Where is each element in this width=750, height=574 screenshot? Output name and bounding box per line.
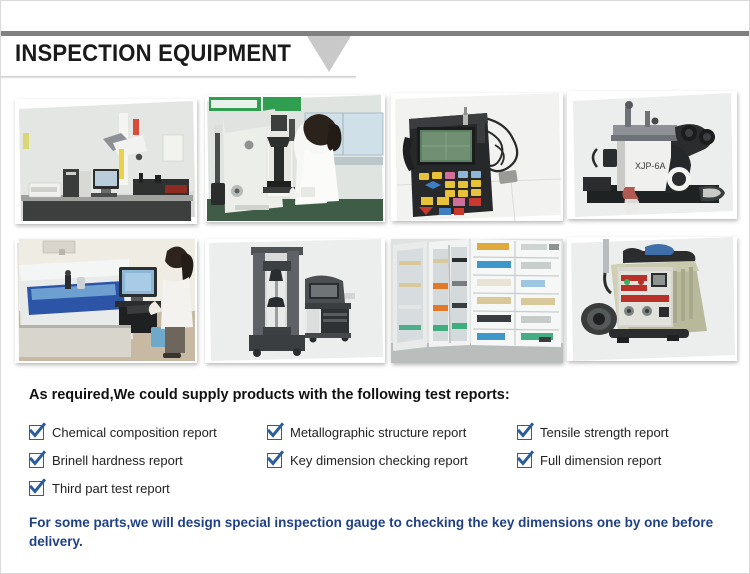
photo-ultrasonic-detector-image [391,93,563,221]
photo-xray-detector-image [567,237,737,361]
svg-text:XJP-6A: XJP-6A [635,161,666,171]
checkbox-checked-icon[interactable] [517,453,532,468]
checklist-item-chemical-composition-report[interactable]: Chemical composition report [29,421,217,443]
banner-triangle-notch-icon [307,36,351,72]
checklist-row: Chemical composition report Metallograph… [29,421,729,449]
checklist-item-third-part-test-report[interactable]: Third part test report [29,477,170,499]
checklist-item-brinell-hardness-report[interactable]: Brinell hardness report [29,449,183,471]
checklist-item-key-dimension-checking-report[interactable]: Key dimension checking report [267,449,468,471]
photo-cmm-lab-image [15,99,197,224]
test-reports-checklist: Chemical composition report Metallograph… [29,421,729,505]
checklist-item-label: Tensile strength report [540,425,669,440]
checklist-row: Third part test report [29,477,729,505]
equipment-photo-grid: XJP-6A [15,91,737,367]
checklist-row: Brinell hardness report Key dimension ch… [29,449,729,477]
checklist-item-tensile-strength-report[interactable]: Tensile strength report [517,421,669,443]
footnote-text: For some parts,we will design special in… [29,513,719,551]
page-header-banner: INSPECTION EQUIPMENT [1,31,750,79]
checkbox-checked-icon[interactable] [29,425,44,440]
photo-metallurgical-microscope[interactable]: XJP-6A [567,91,737,219]
checkbox-checked-icon[interactable] [29,453,44,468]
photo-spectrometer[interactable] [15,239,197,363]
photo-hardness-tester-image [205,95,385,222]
photo-xray-detector[interactable] [567,237,737,361]
photo-tensile-machine[interactable] [205,239,385,363]
checklist-item-full-dimension-report[interactable]: Full dimension report [517,449,661,471]
checklist-item-label: Third part test report [52,481,170,496]
photo-gauge-cabinets-image [391,239,563,363]
banner-shadow [1,76,356,79]
photo-tensile-machine-image [205,239,385,363]
checkbox-checked-icon[interactable] [267,425,282,440]
photo-metallurgical-microscope-image: XJP-6A [567,91,737,219]
lead-text: As required,We could supply products wit… [29,387,510,403]
checklist-item-label: Chemical composition report [52,425,217,440]
photo-gauge-cabinets[interactable] [391,239,563,363]
photo-cmm-lab[interactable] [15,99,197,224]
checklist-item-label: Metallographic structure report [290,425,466,440]
checkbox-checked-icon[interactable] [517,425,532,440]
photo-hardness-tester[interactable] [205,95,385,222]
checklist-item-label: Brinell hardness report [52,453,183,468]
checkbox-checked-icon[interactable] [267,453,282,468]
inspection-equipment-page: INSPECTION EQUIPMENT [0,0,750,574]
photo-ultrasonic-detector[interactable] [391,93,563,221]
checklist-item-label: Full dimension report [540,453,661,468]
checkbox-checked-icon[interactable] [29,481,44,496]
page-title: INSPECTION EQUIPMENT [15,40,291,68]
checklist-item-metallographic-structure-report[interactable]: Metallographic structure report [267,421,466,443]
photo-spectrometer-image [15,239,197,363]
checklist-item-label: Key dimension checking report [290,453,468,468]
banner-top-rule [1,31,750,36]
